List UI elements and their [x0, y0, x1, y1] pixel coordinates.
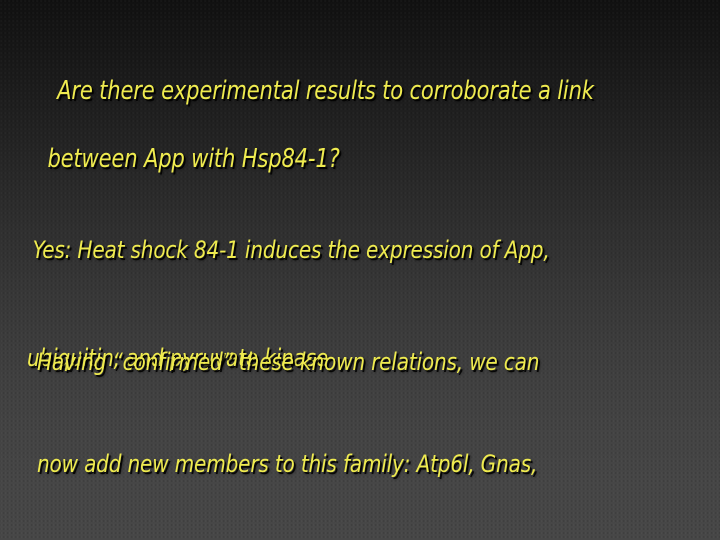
slide-body-conclusion: Having “confirmed” these known relations…	[37, 277, 632, 540]
presentation-slide: Are there experimental results to corrob…	[0, 0, 720, 540]
slide-body-conclusion-line-2: now add new members to this family: Atp6…	[37, 447, 632, 481]
slide-title-line-1: Are there experimental results to corrob…	[57, 76, 594, 106]
slide-body-answer-line-1: Yes: Heat shock 84-1 induces the express…	[27, 232, 632, 268]
slide-content: Are there experimental results to corrob…	[0, 0, 720, 540]
slide-body-conclusion-line-1: Having “confirmed” these known relations…	[37, 345, 632, 379]
